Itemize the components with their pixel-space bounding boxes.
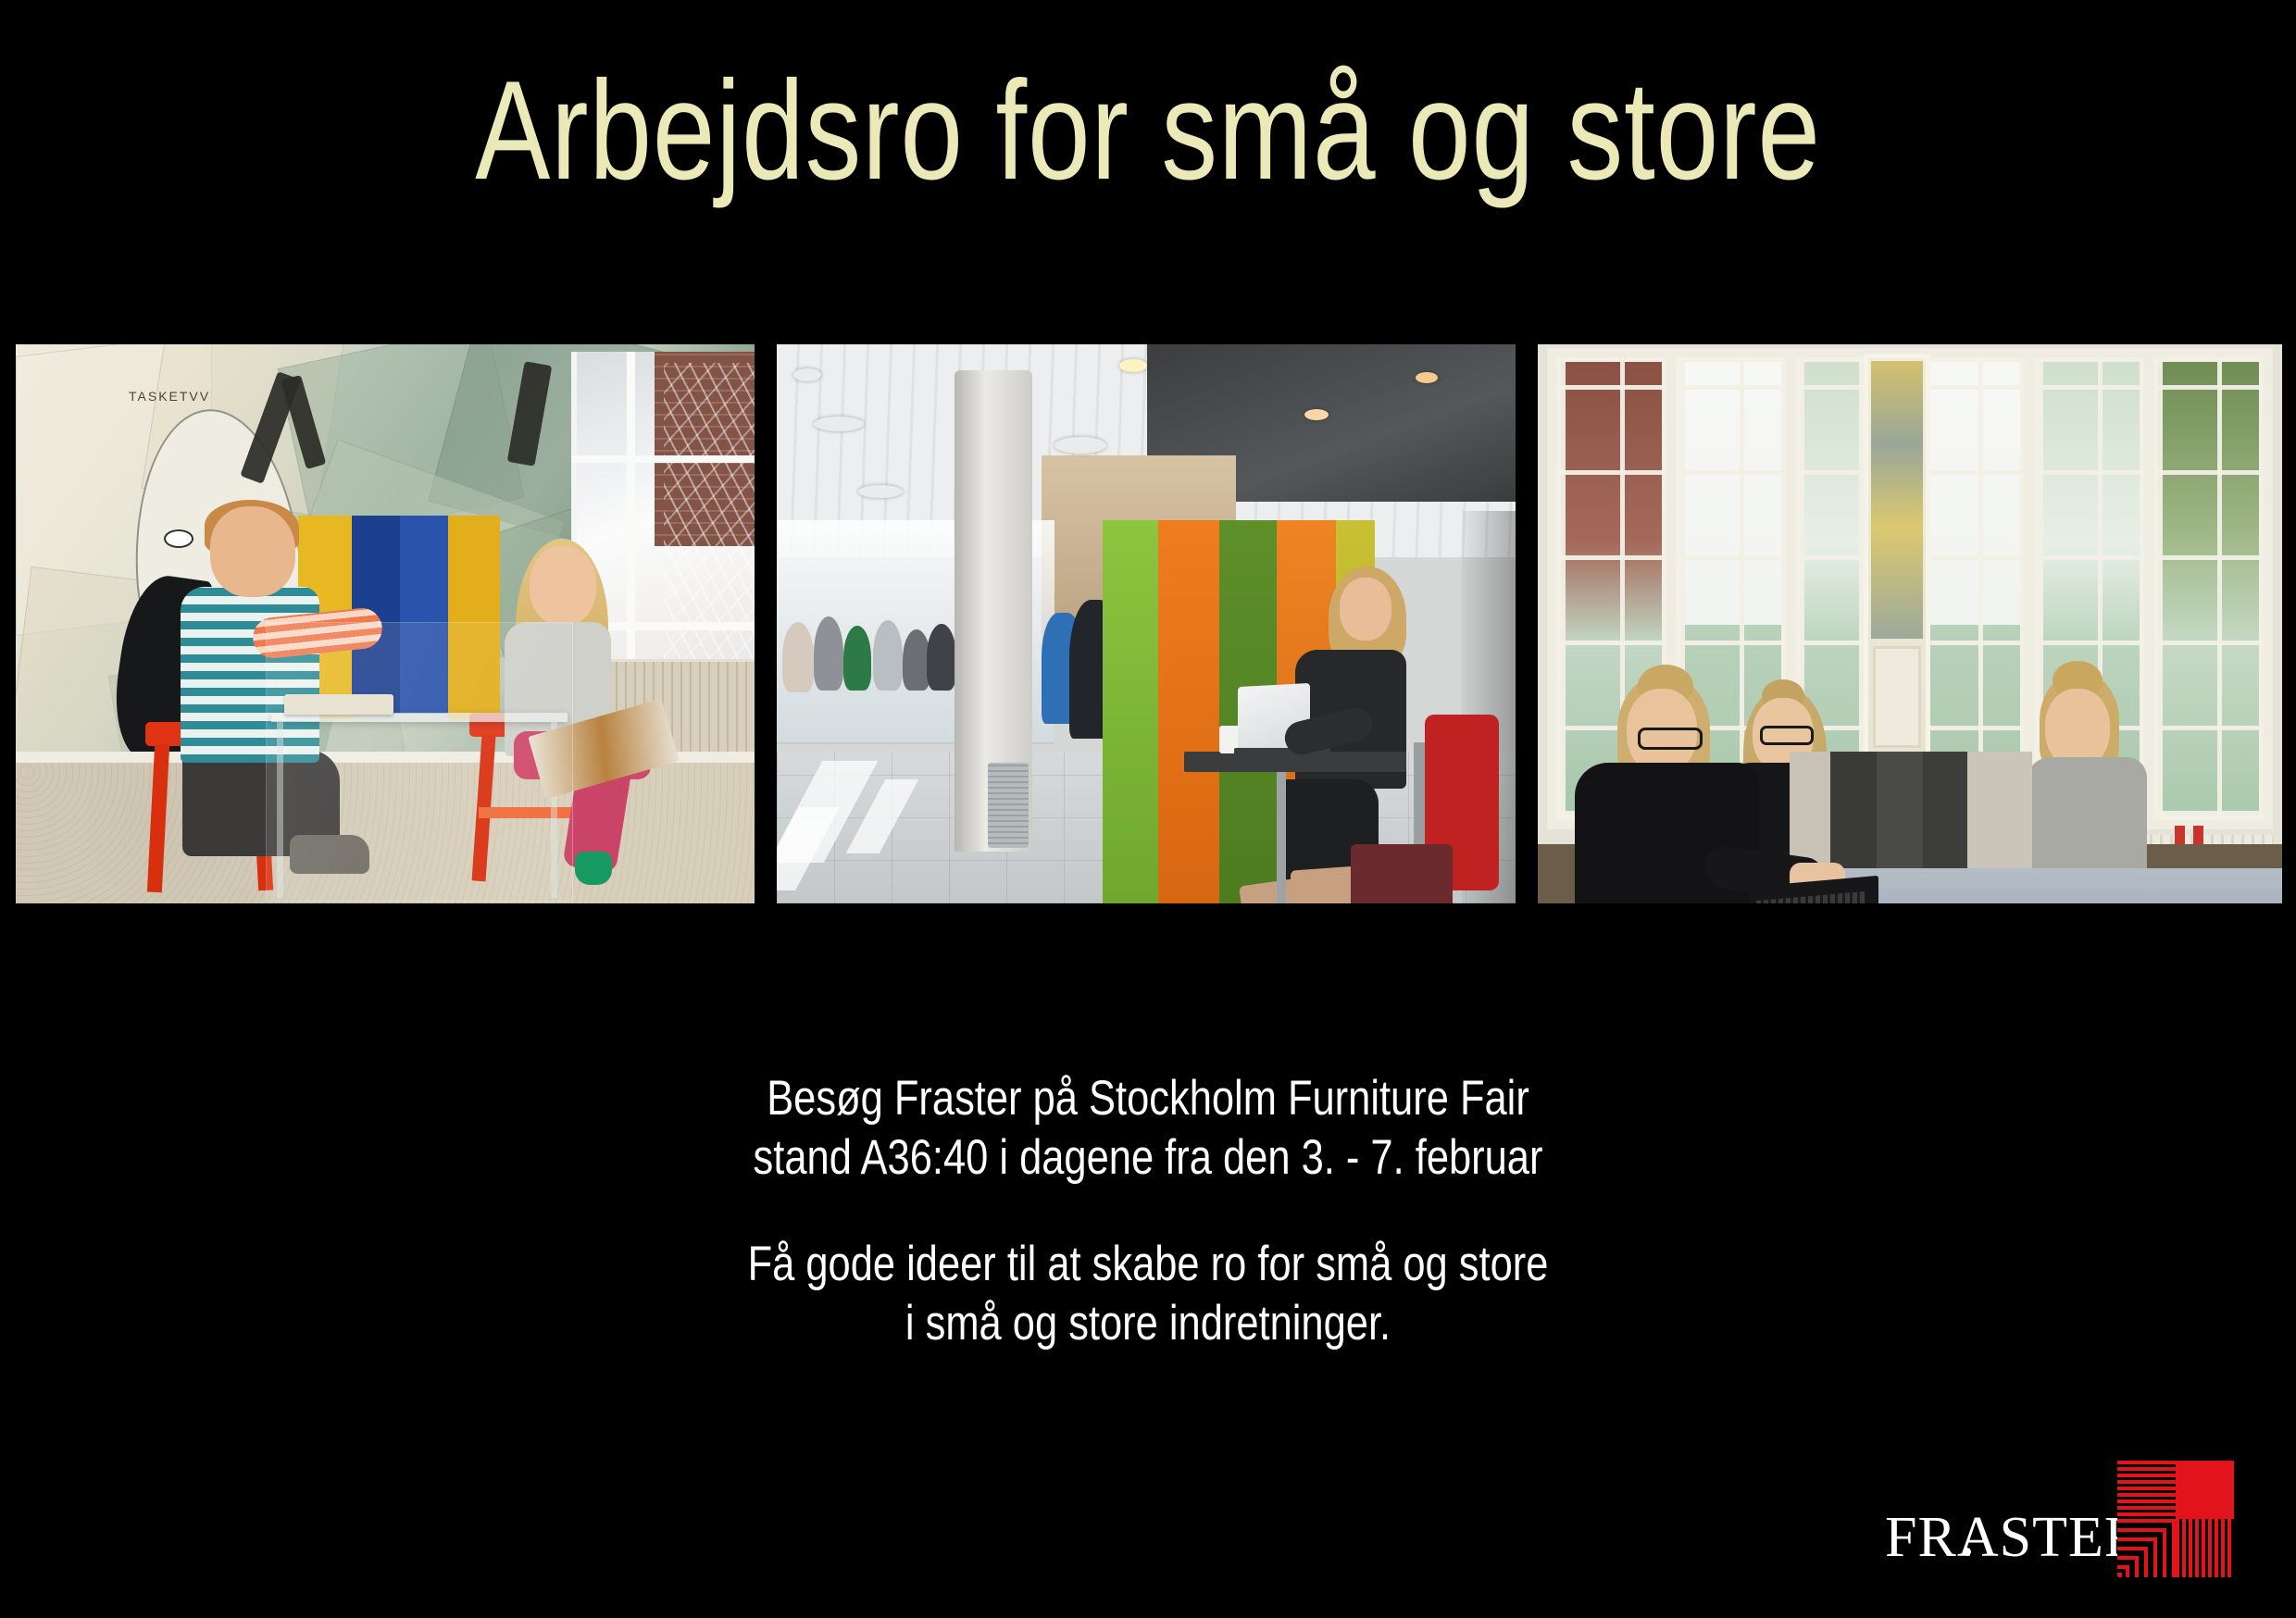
fraster-logo-mark-icon — [2117, 1461, 2234, 1577]
table-leg — [1277, 772, 1286, 903]
body-line-1: Besøg Fraster på Stockholm Furniture Fai… — [206, 1069, 2090, 1128]
body-line-3: Få gode ideer til at skabe ro for små og… — [206, 1235, 2090, 1294]
ceiling-light — [1416, 372, 1438, 383]
photo-three-women-long-table — [1538, 344, 2282, 903]
window-mullion — [571, 455, 755, 463]
boy-head — [210, 506, 295, 597]
seated-person — [814, 616, 843, 691]
ceiling-light — [858, 485, 903, 498]
girl-head — [530, 546, 596, 626]
stained-glass-panel — [1871, 361, 1923, 639]
ceiling-light — [1119, 359, 1147, 372]
window-pane — [2153, 357, 2264, 820]
wordmark-dot — [1963, 1548, 1971, 1556]
ceiling-light — [1054, 437, 1106, 454]
logo-quadrant-concentric-corners — [2117, 1519, 2176, 1577]
seated-person — [843, 626, 871, 691]
eyeglasses — [1760, 726, 1814, 745]
body-line-4: i små og store indretninger. — [206, 1294, 2090, 1353]
ceiling-light — [793, 368, 821, 381]
leather-bag — [1351, 844, 1453, 903]
body-line-2: stand A36:40 i dagene fra den 3. - 7. fe… — [206, 1128, 2090, 1188]
seated-person — [873, 620, 903, 691]
body-copy: Besøg Fraster på Stockholm Furniture Fai… — [206, 1069, 2090, 1352]
logo-quadrant-horizontal-stripes — [2117, 1461, 2176, 1519]
woman-head — [1340, 578, 1391, 641]
photo-strip: TASKETVV — [16, 344, 2282, 903]
acoustic-screen-panel — [1158, 520, 1219, 903]
page-title: Arbejdsro for små og store — [230, 57, 2066, 205]
mural-eye — [164, 529, 193, 548]
girl-sock — [575, 852, 612, 885]
ceiling-light — [814, 417, 864, 431]
window-pane — [1915, 357, 2025, 820]
seated-person — [782, 622, 814, 692]
waste-bin — [988, 763, 1029, 848]
photo-children-study-table: TASKETVV — [16, 344, 755, 903]
fraster-wordmark: FRASTER — [1885, 1509, 2143, 1566]
photo-woman-laptop-library — [777, 344, 1516, 903]
door-panel — [1873, 646, 1921, 748]
mural-label-text: TASKETVV — [129, 389, 210, 404]
eyeglasses — [1638, 728, 1703, 750]
logo-quadrant-vertical-stripes — [2176, 1519, 2234, 1577]
background-crowd — [777, 613, 962, 752]
ceiling-light — [1304, 409, 1329, 420]
poster-root: { "poster": { "background_color": "#0000… — [0, 0, 2296, 1618]
seated-person — [927, 624, 956, 691]
logo-quadrant-solid — [2176, 1461, 2234, 1519]
glass-reflection — [266, 622, 573, 902]
fraster-logo[interactable]: FRASTER — [1885, 1459, 2255, 1588]
acoustic-screen-panel — [1103, 520, 1158, 903]
body-spacer — [206, 1187, 2090, 1235]
